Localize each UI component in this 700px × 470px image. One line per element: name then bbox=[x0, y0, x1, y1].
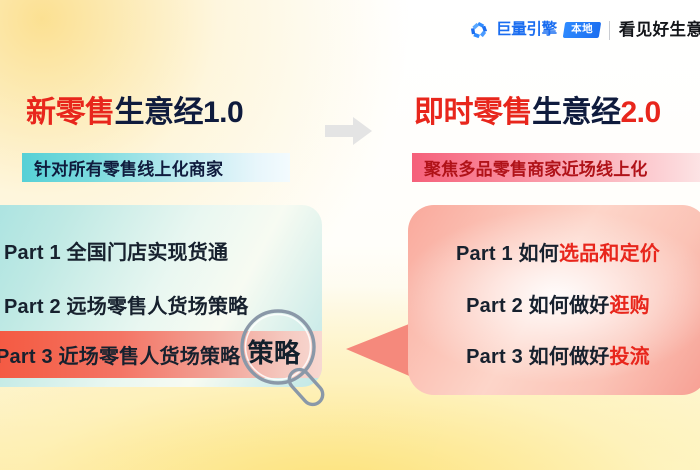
left-headline-rest: 生意经1.0 bbox=[115, 96, 244, 129]
right-headline-accent-tail: 2.0 bbox=[621, 96, 661, 129]
list-item[interactable]: Part 1 如何选品和定价 bbox=[408, 233, 700, 269]
right-headline: 即时零售生意经2.0 bbox=[414, 98, 661, 128]
juliang-engine-logo-icon bbox=[470, 21, 489, 40]
right-row-prefix-2: Part 3 如何做好 bbox=[466, 340, 609, 369]
speech-bubble-tail bbox=[344, 322, 414, 378]
left-subtitle-bar: 针对所有零售线上化商家 bbox=[22, 153, 290, 182]
right-row-hot-0: 选品和定价 bbox=[559, 237, 660, 266]
brand-name: 巨量引擎 bbox=[496, 22, 557, 38]
left-subtitle-label: 针对所有零售线上化商家 bbox=[34, 155, 223, 180]
list-item[interactable]: Part 1 全国门店实现货通 bbox=[0, 227, 322, 274]
right-headline-rest: 生意经 bbox=[532, 96, 621, 129]
right-subtitle-bar: 聚焦多品零售商家近场线上化 bbox=[412, 153, 700, 182]
left-row-label-2: Part 3 近场零售人货场策略 bbox=[0, 340, 240, 369]
local-badge-label: 本地 bbox=[571, 24, 593, 35]
right-row-prefix-1: Part 2 如何做好 bbox=[466, 289, 609, 318]
right-agenda-panel: Part 1 如何选品和定价 Part 2 如何做好逛购 Part 3 如何做好… bbox=[408, 205, 700, 395]
left-row-label-1: Part 2 远场零售人货场策略 bbox=[4, 290, 248, 319]
list-item[interactable]: Part 3 如何做好投流 bbox=[408, 336, 700, 372]
brand-header: 巨量引擎 本地 看见好生意 bbox=[470, 18, 700, 42]
local-badge: 本地 bbox=[563, 22, 601, 38]
list-item[interactable]: Part 2 远场零售人货场策略 bbox=[0, 281, 322, 328]
list-item[interactable]: Part 3 近场零售人货场策略 bbox=[0, 331, 240, 378]
left-headline-accent: 新零售 bbox=[26, 96, 115, 129]
left-row-label-0: Part 1 全国门店实现货通 bbox=[4, 236, 228, 265]
brand-tagline: 看见好生意 bbox=[619, 22, 700, 39]
list-item[interactable]: Part 2 如何做好逛购 bbox=[408, 285, 700, 321]
magnified-text-label: 策略 bbox=[247, 333, 300, 370]
left-headline: 新零售生意经1.0 bbox=[26, 98, 243, 128]
right-row-hot-2: 投流 bbox=[609, 340, 649, 369]
slide-canvas: 巨量引擎 本地 看见好生意 新零售生意经1.0 即时零售生意经2.0 针对所有零… bbox=[0, 0, 700, 470]
header-divider bbox=[609, 21, 610, 40]
right-row-prefix-0: Part 1 如何 bbox=[456, 237, 559, 266]
right-row-hot-1: 逛购 bbox=[609, 289, 649, 318]
transition-arrow-icon bbox=[325, 116, 373, 146]
right-subtitle-label: 聚焦多品零售商家近场线上化 bbox=[424, 155, 648, 180]
magnified-text: 策略 bbox=[232, 330, 316, 372]
right-headline-accent: 即时零售 bbox=[414, 96, 532, 129]
